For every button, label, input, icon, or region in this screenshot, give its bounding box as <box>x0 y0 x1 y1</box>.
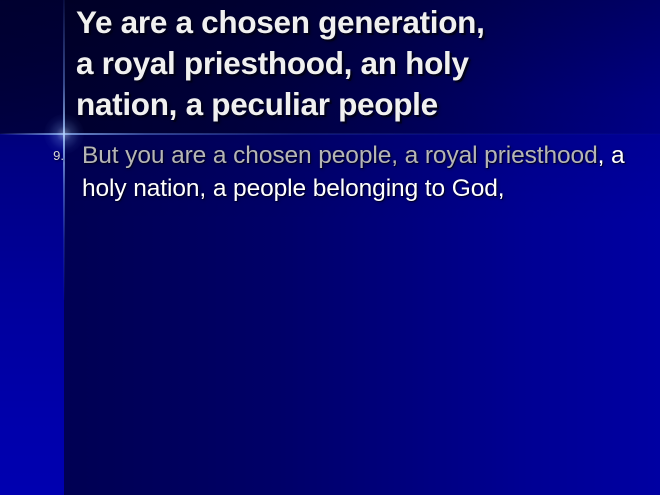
horizontal-divider-line <box>0 133 660 135</box>
slide-title: Ye are a chosen generation, a royal prie… <box>76 2 652 125</box>
title-line-3: nation, a peculiar people <box>76 84 652 125</box>
title-line-1: Ye are a chosen generation, <box>76 2 652 43</box>
verse-text-segment-dim: But you are a chosen people, a royal pri… <box>82 142 598 169</box>
verse-text: But you are a chosen people, a royal pri… <box>68 139 630 205</box>
verse-number: 9. <box>30 139 68 172</box>
slide-body: 9. But you are a chosen people, a royal … <box>30 139 630 205</box>
presentation-slide: Ye are a chosen generation, a royal prie… <box>0 0 660 495</box>
verse-row: 9. But you are a chosen people, a royal … <box>30 139 630 205</box>
title-line-2: a royal priesthood, an holy <box>76 43 652 84</box>
